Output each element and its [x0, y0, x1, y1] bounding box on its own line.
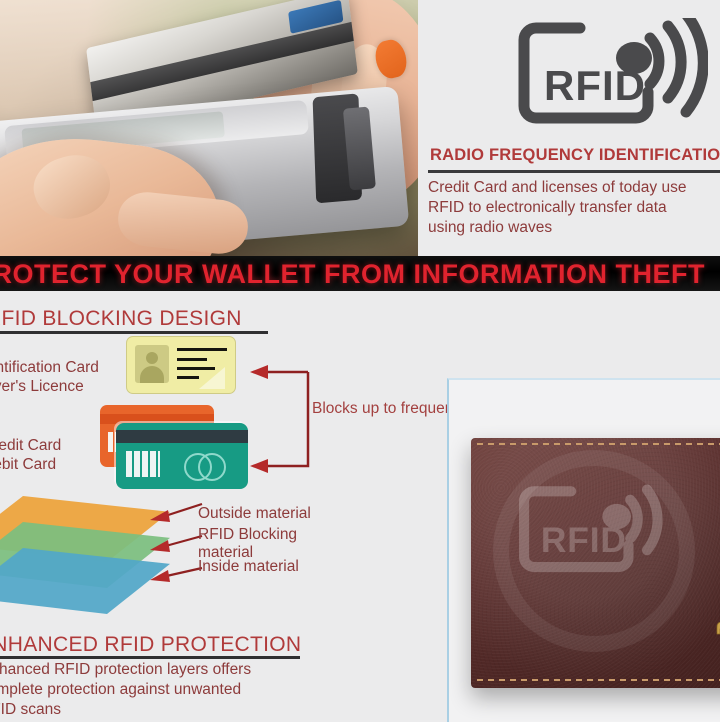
credit-card-label-line-1: Credit Card [0, 437, 61, 454]
id-text-line [177, 358, 207, 361]
wallet-stitching-top [477, 443, 720, 445]
wallet-stitching-bottom [477, 679, 720, 681]
card-magstripe [116, 430, 248, 443]
rfid-desc-line-2: RFID to electronically transfer data [428, 198, 720, 218]
id-text-line [177, 367, 215, 370]
blocking-arrow-connector [246, 358, 376, 480]
enhanced-protection-underline [0, 656, 300, 659]
rfid-explainer-panel: RFID RADIO FREQUENCY IDENTIFICATION Cred… [418, 0, 720, 256]
rfid-logo-icon: RFID [518, 18, 708, 130]
svg-text:RFID: RFID [544, 62, 646, 109]
camel-emblem-icon [711, 616, 720, 640]
svg-text:RFID: RFID [541, 521, 627, 560]
infographic-root: RFID RADIO FREQUENCY IDENTIFICATION Cred… [0, 0, 720, 720]
id-avatar-head [146, 352, 158, 364]
protection-body-line-1: Enhanced RFID protection layers offers [0, 660, 340, 680]
blocking-design-underline [0, 331, 268, 334]
id-card-fold [199, 367, 225, 389]
id-photo-placeholder [135, 345, 169, 383]
id-text-line [177, 348, 227, 351]
identification-card-graphic [126, 336, 236, 394]
label-rfid-blocking-line-1: RFID Blocking [198, 526, 297, 543]
card-swipe-terminal-photo [0, 0, 418, 256]
protection-body-line-3: RFID scans [0, 700, 340, 720]
label-outside-material: Outside material [198, 505, 311, 523]
enhanced-protection-body: Enhanced RFID protection layers offers c… [0, 660, 340, 720]
id-card-label: Identification Card Driver's Licence [0, 358, 99, 396]
blocking-design-title: RFID BLOCKING DESIGN [0, 307, 242, 331]
credit-card-label-line-2: Debit Card [0, 456, 56, 473]
rfid-title-underline [428, 170, 720, 173]
id-avatar-body [140, 366, 164, 383]
rfid-desc-line-3: using radio waves [428, 218, 720, 238]
rfid-watermark-icon: RFID [519, 480, 679, 580]
card-brand-circle [198, 453, 226, 481]
protection-body-line-2: complete protection against unwanted [0, 680, 340, 700]
id-card-label-line-2: Driver's Licence [0, 378, 84, 395]
rfid-panel-title: RADIO FREQUENCY IDENTIFICATION [430, 146, 720, 165]
teal-debit-card-graphic [116, 423, 248, 489]
rfid-desc-line-1: Credit Card and licenses of today use [428, 178, 720, 198]
rfid-panel-description: Credit Card and licenses of today use RF… [428, 178, 720, 238]
label-inside-material: Inside material [198, 558, 299, 576]
brown-leather-wallet: RFID [471, 438, 720, 688]
label-rfid-blocking-material: RFID Blocking material [198, 526, 297, 562]
credit-card-label: Credit Card Debit Card [0, 436, 61, 474]
wallet-product-panel: RFID [447, 378, 720, 722]
headline-banner-text: PROTECT YOUR WALLET FROM INFORMATION THE… [0, 259, 705, 290]
id-text-line [177, 376, 199, 379]
enhanced-protection-title: ENHANCED RFID PROTECTION [0, 633, 301, 657]
card-chip [126, 451, 160, 477]
headline-banner: PROTECT YOUR WALLET FROM INFORMATION THE… [0, 256, 720, 291]
id-card-label-line-1: Identification Card [0, 359, 99, 376]
